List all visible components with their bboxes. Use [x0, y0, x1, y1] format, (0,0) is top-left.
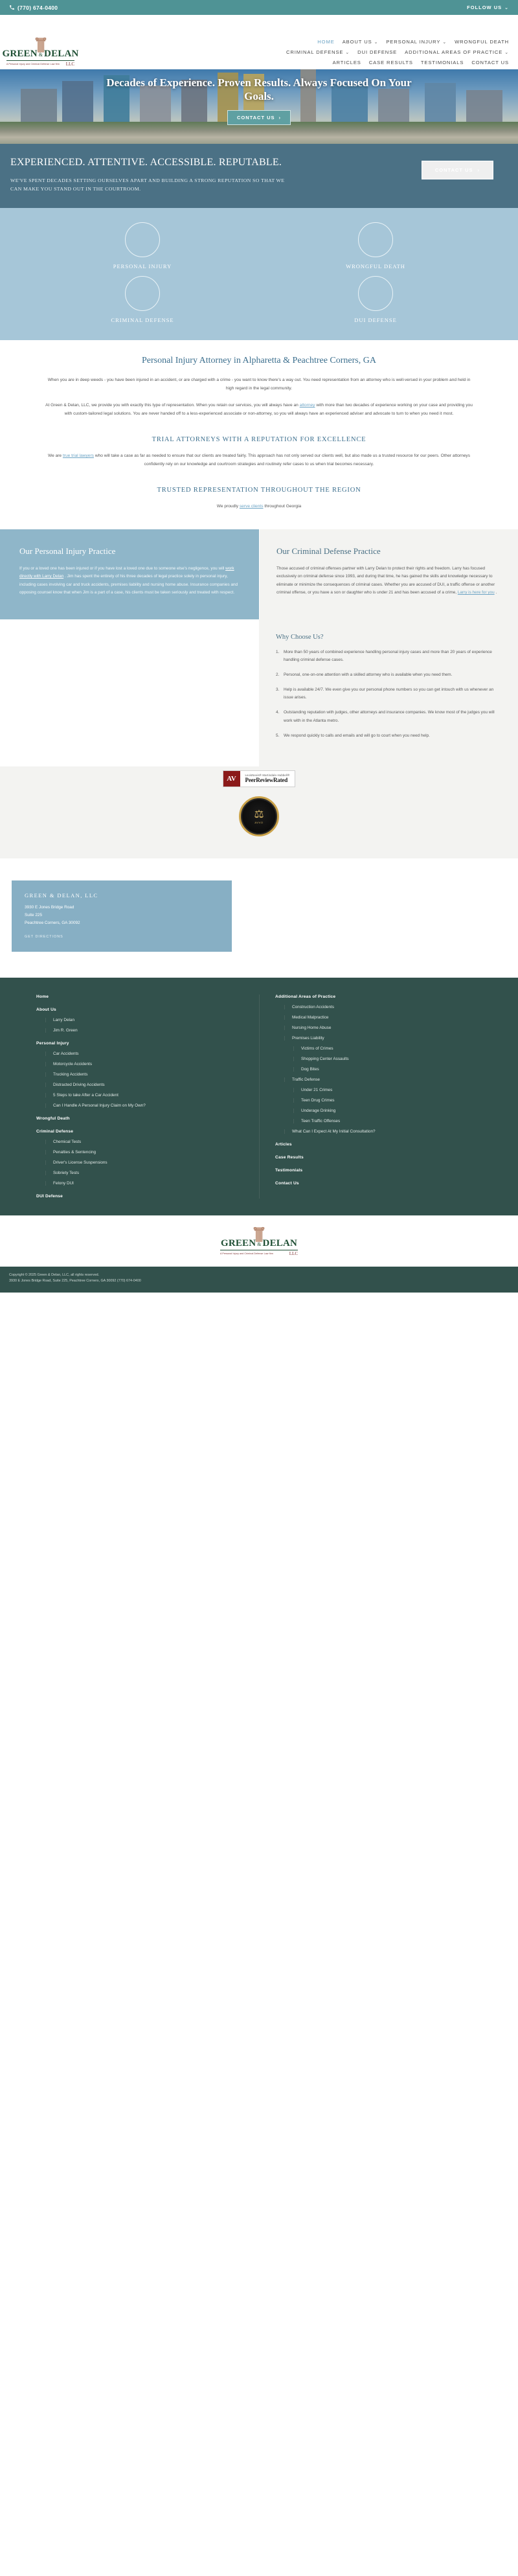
intro-p4-text-a: We proudly	[217, 504, 238, 509]
region-heading: TRUSTED REPRESENTATION THROUGHOUT THE RE…	[45, 487, 473, 494]
practice-tile-criminal-defense[interactable]: CRIMINAL DEFENSE	[26, 276, 259, 323]
copyright-bar: Copyright © 2025 Green & Delan, LLC, all…	[0, 1267, 518, 1293]
trial-lawyers-link[interactable]: true trial lawyers	[63, 454, 94, 458]
footer-link[interactable]: Under 21 Crimes	[293, 1088, 482, 1092]
why-spacer	[0, 619, 259, 766]
nav-item-testimonials[interactable]: TESTIMONIALS	[421, 60, 464, 65]
intro-p3-text-b: who will take a case as far as needed to…	[95, 454, 470, 466]
get-directions-link[interactable]: GET DIRECTIONS	[25, 935, 219, 939]
why-item: Help is available 24/7. We even give you…	[276, 686, 499, 702]
footer-link[interactable]: Jim R. Green	[45, 1028, 259, 1033]
practice-tile-label: WRONGFUL DEATH	[346, 263, 405, 270]
personal-injury-panel: Our Personal Injury Practice If you or a…	[0, 529, 259, 619]
practice-tile-label: CRIMINAL DEFENSE	[111, 317, 174, 323]
hero-contact-us-button[interactable]: CONTACT US ›	[227, 110, 291, 125]
footer-link[interactable]: Motorcycle Accidents	[45, 1062, 259, 1066]
footer-link[interactable]: Articles	[275, 1142, 482, 1147]
logo-divider	[6, 60, 74, 61]
chevron-down-icon: ⌄	[442, 40, 447, 45]
nav-item-home[interactable]: HOME	[317, 39, 334, 45]
intro-p2-text-a: At Green & Delan, LLC, we provide you wi…	[45, 403, 298, 408]
why-item: Outstanding reputation with judges, othe…	[276, 709, 499, 724]
site-header: GREEN & DELAN A Personal Injury and Crim…	[0, 15, 518, 69]
footer-link[interactable]: Shopping Center Assaults	[293, 1057, 482, 1061]
footer-link[interactable]: Dog Bites	[293, 1067, 482, 1072]
footer-logo-tagline: A Personal Injury and Criminal Defense L…	[220, 1252, 273, 1255]
nav-item-contact-us[interactable]: CONTACT US	[471, 60, 509, 65]
nav-row-2: CRIMINAL DEFENSE ⌄ DUI DEFENSE ADDITIONA…	[286, 49, 509, 55]
intro-p4-text-b: throughout Georgia	[264, 504, 301, 509]
address-line-1: 3930 E Jones Bridge Road	[25, 904, 219, 912]
nav-label: ADDITIONAL AREAS OF PRACTICE	[405, 49, 502, 55]
office-address-card: GREEN & DELAN, LLC 3930 E Jones Bridge R…	[12, 880, 232, 952]
hero-cta-label: CONTACT US	[237, 115, 275, 121]
cd-panel-title: Our Criminal Defense Practice	[276, 546, 499, 557]
av-mark: AV	[223, 771, 240, 787]
nav-item-wrongful-death[interactable]: WRONGFUL DEATH	[455, 39, 509, 45]
nav-label: WRONGFUL DEATH	[455, 39, 509, 45]
why-choose-us-panel: Why Choose Us? More than 50 years of com…	[259, 619, 518, 766]
logo-ampersand: &	[39, 52, 43, 58]
nav-label: CRIMINAL DEFENSE	[286, 49, 343, 55]
top-utility-bar: (770) 674-0400 FOLLOW US ⌄	[0, 0, 518, 15]
practice-circle-icon	[125, 222, 160, 257]
practice-tile-wrongful-death[interactable]: WRONGFUL DEATH	[259, 222, 492, 270]
main-navigation: HOME ABOUT US ⌄ PERSONAL INJURY ⌄ WRONGF…	[286, 39, 509, 68]
copyright-line-1: Copyright © 2025 Green & Delan, LLC, all…	[9, 1272, 509, 1279]
intro-paragraph-2: At Green & Delan, LLC, we provide you wi…	[45, 402, 473, 418]
practice-tile-personal-injury[interactable]: PERSONAL INJURY	[26, 222, 259, 270]
intro-paragraph-1: When you are in deep weeds - you have be…	[45, 376, 473, 393]
phone-icon	[9, 5, 15, 10]
footer-logo-band: GREEN & DELAN A Personal Injury and Crim…	[0, 1215, 518, 1267]
intro-section: Personal Injury Attorney in Alpharetta &…	[0, 340, 518, 529]
trial-attorneys-heading: TRIAL ATTORNEYS WITH A REPUTATION FOR EX…	[45, 436, 473, 443]
footer-link[interactable]: Underage Drinking	[293, 1109, 482, 1113]
cta-label: CONTACT US	[435, 167, 473, 173]
footer-link[interactable]: Distracted Driving Accidents	[45, 1083, 259, 1087]
footer-logo-divider	[220, 1250, 298, 1250]
logo-llc: LLC	[66, 62, 74, 67]
nav-item-about-us[interactable]: ABOUT US ⌄	[343, 39, 379, 45]
logo-word-delan: DELAN	[44, 49, 79, 60]
firm-name: GREEN & DELAN, LLC	[25, 892, 219, 899]
footer-link[interactable]: DUI Defense	[36, 1194, 259, 1199]
nav-label: CONTACT US	[471, 60, 509, 65]
footer-column-right: Additional Areas of Practice Constructio…	[259, 995, 482, 1199]
cd-panel-body: Those accused of criminal offenses partn…	[276, 565, 499, 597]
nav-item-dui-defense[interactable]: DUI DEFENSE	[357, 49, 397, 55]
footer-link[interactable]: Teen Traffic Offenses	[293, 1119, 482, 1123]
nav-item-articles[interactable]: ARTICLES	[333, 60, 361, 65]
hero-headline: Decades of Experience. Proven Results. A…	[91, 76, 427, 104]
chevron-down-icon: ⌄	[504, 50, 509, 55]
nav-label: PERSONAL INJURY	[386, 39, 440, 45]
footer-link[interactable]: Nursing Home Abuse	[284, 1026, 482, 1030]
nav-item-additional-areas[interactable]: ADDITIONAL AREAS OF PRACTICE ⌄	[405, 49, 509, 55]
nav-item-personal-injury[interactable]: PERSONAL INJURY ⌄	[386, 39, 447, 45]
practice-circle-icon	[358, 276, 393, 311]
footer-site-logo[interactable]: GREEN & DELAN A Personal Injury and Crim…	[220, 1226, 298, 1258]
phone-link[interactable]: (770) 674-0400	[9, 5, 58, 11]
follow-us-dropdown[interactable]: FOLLOW US ⌄	[467, 5, 509, 10]
footer-link[interactable]: Premises Liability	[284, 1036, 482, 1041]
practice-tile-dui-defense[interactable]: DUI DEFENSE	[259, 276, 492, 323]
why-item: We respond quickly to calls and emails a…	[276, 732, 499, 740]
address-line-3: Peachtree Corners, GA 30092	[25, 919, 219, 927]
office-address-band: GREEN & DELAN, LLC 3930 E Jones Bridge R…	[0, 858, 518, 978]
footer-link[interactable]: Home	[36, 995, 259, 999]
footer-link[interactable]: Car Accidents	[45, 1052, 259, 1056]
footer-link[interactable]: What Can I Expect At My Initial Consulta…	[284, 1129, 482, 1134]
footer-link[interactable]: 5 Steps to take After a Car Accident	[45, 1093, 259, 1098]
footer-link[interactable]: Victims of Crimes	[293, 1046, 482, 1051]
footer-link[interactable]: Case Results	[275, 1155, 482, 1160]
practice-circle-icon	[125, 276, 160, 311]
experienced-subtext: WE'VE SPENT DECADES SETTING OURSELVES AP…	[10, 176, 289, 194]
pi-panel-title: Our Personal Injury Practice	[19, 546, 242, 557]
footer-link[interactable]: Trucking Accidents	[45, 1072, 259, 1077]
hero-banner: Decades of Experience. Proven Results. A…	[0, 69, 518, 144]
experienced-contact-us-button[interactable]: CONTACT US ›	[422, 161, 493, 179]
practice-circle-icon	[358, 222, 393, 257]
footer-link[interactable]: Construction Accidents	[284, 1005, 482, 1009]
footer-link[interactable]: Medical Malpractice	[284, 1015, 482, 1020]
practice-tile-label: PERSONAL INJURY	[113, 263, 172, 270]
intro-p3-text-a: We are	[48, 454, 62, 458]
footer-link[interactable]: Felony DUI	[45, 1181, 259, 1186]
av-peer-review-rated-badge[interactable]: AV LexisNexis® Martindale-Hubbell® PeerR…	[223, 770, 296, 787]
practice-tile-label: DUI DEFENSE	[354, 317, 397, 323]
footer-column-left: Home About Us Larry Delan Jim R. Green P…	[36, 995, 259, 1199]
nav-label: ARTICLES	[333, 60, 361, 65]
nav-label: TESTIMONIALS	[421, 60, 464, 65]
awards-badges: AV LexisNexis® Martindale-Hubbell® PeerR…	[0, 766, 518, 858]
attorney-link[interactable]: attorney	[300, 403, 315, 408]
nav-label: HOME	[317, 39, 334, 45]
footer-logo-ampersand: &	[257, 1241, 261, 1247]
footer-link[interactable]: Can I Handle A Personal Injury Claim on …	[45, 1103, 259, 1108]
footer-link[interactable]: Larry Delan	[45, 1018, 259, 1022]
nav-label: CASE RESULTS	[369, 60, 413, 65]
chevron-down-icon: ⌄	[504, 5, 509, 10]
logo-tagline: A Personal Injury and Criminal Defense L…	[6, 63, 60, 65]
footer-link[interactable]: Penalties & Sentencing	[45, 1150, 259, 1155]
footer-link[interactable]: Teen Drug Crimes	[293, 1098, 482, 1103]
why-item: Personal, one-on-one attention with a sk…	[276, 671, 499, 679]
footer-link[interactable]: Driver's License Suspensions	[45, 1160, 259, 1165]
footer-link[interactable]: Contact Us	[275, 1181, 482, 1186]
footer-logo-word-delan: DELAN	[263, 1238, 298, 1249]
pi-body-text-a: If you or a loved one has been injured o…	[19, 566, 224, 571]
criminal-defense-panel: Our Criminal Defense Practice Those accu…	[259, 529, 518, 619]
experienced-heading: EXPERIENCED. ATTENTIVE. ACCESSIBLE. REPU…	[10, 155, 289, 170]
footer-link[interactable]: Chemical Tests	[45, 1140, 259, 1144]
why-choose-us-band: Why Choose Us? More than 50 years of com…	[0, 619, 518, 766]
experienced-band: EXPERIENCED. ATTENTIVE. ACCESSIBLE. REPU…	[0, 144, 518, 208]
logo-word-green: GREEN	[2, 49, 37, 60]
chevron-down-icon: ⌄	[374, 40, 379, 45]
serve-clients-link[interactable]: serve clients	[240, 504, 264, 509]
footer-link[interactable]: Criminal Defense	[36, 1129, 259, 1134]
footer-link[interactable]: Sobriety Tests	[45, 1171, 259, 1175]
footer-logo-word-green: GREEN	[221, 1238, 256, 1249]
footer-logo-llc: LLC	[289, 1251, 298, 1256]
scales-of-justice-icon: ⚖	[254, 809, 264, 820]
cd-body-text-b: .	[495, 590, 497, 595]
why-item: More than 50 years of combined experienc…	[276, 649, 499, 664]
practice-panels: Our Personal Injury Practice If you or a…	[0, 529, 518, 619]
intro-paragraph-3: We are true trial lawyers who will take …	[45, 452, 473, 468]
avvo-seal-label: AVVO	[254, 821, 263, 824]
footer-link[interactable]: Testimonials	[275, 1168, 482, 1173]
larry-is-here-for-you-link[interactable]: Larry is here for you	[458, 590, 495, 595]
address-line-2: Suite 225	[25, 912, 219, 919]
intro-paragraph-4: We proudly serve clients throughout Geor…	[45, 503, 473, 511]
practice-areas-band: PERSONAL INJURY WRONGFUL DEATH CRIMINAL …	[0, 208, 518, 340]
chevron-down-icon: ⌄	[345, 50, 350, 55]
chevron-right-icon: ›	[279, 115, 282, 121]
avvo-seal-badge[interactable]: ⚖ AVVO	[239, 796, 279, 836]
why-choose-us-title: Why Choose Us?	[276, 634, 499, 641]
av-badge-title: PeerReviewRated	[245, 777, 290, 783]
site-logo[interactable]: GREEN & DELAN A Personal Injury and Crim…	[6, 36, 74, 68]
copyright-line-2: 3930 E Jones Bridge Road, Suite 225, Pea…	[9, 1278, 509, 1285]
nav-row-1: HOME ABOUT US ⌄ PERSONAL INJURY ⌄ WRONGF…	[286, 39, 509, 45]
phone-number: (770) 674-0400	[17, 5, 58, 11]
follow-us-label: FOLLOW US	[467, 5, 502, 10]
footer-link[interactable]: Wrongful Death	[36, 1116, 259, 1121]
footer-link[interactable]: Traffic Defense	[284, 1077, 482, 1082]
pi-panel-body: If you or a loved one has been injured o…	[19, 565, 242, 597]
why-choose-us-list: More than 50 years of combined experienc…	[276, 649, 499, 740]
nav-item-criminal-defense[interactable]: CRIMINAL DEFENSE ⌄	[286, 49, 350, 55]
nav-row-3: ARTICLES CASE RESULTS TESTIMONIALS CONTA…	[286, 60, 509, 65]
nav-label: DUI DEFENSE	[357, 49, 397, 55]
footer-sitemap: Home About Us Larry Delan Jim R. Green P…	[0, 978, 518, 1215]
page-title: Personal Injury Attorney in Alpharetta &…	[45, 354, 473, 367]
nav-item-case-results[interactable]: CASE RESULTS	[369, 60, 413, 65]
chevron-right-icon: ›	[478, 167, 480, 173]
footer-link[interactable]: About Us	[36, 1007, 259, 1012]
footer-link[interactable]: Personal Injury	[36, 1041, 259, 1046]
footer-link[interactable]: Additional Areas of Practice	[275, 995, 482, 999]
nav-label: ABOUT US	[343, 39, 372, 45]
